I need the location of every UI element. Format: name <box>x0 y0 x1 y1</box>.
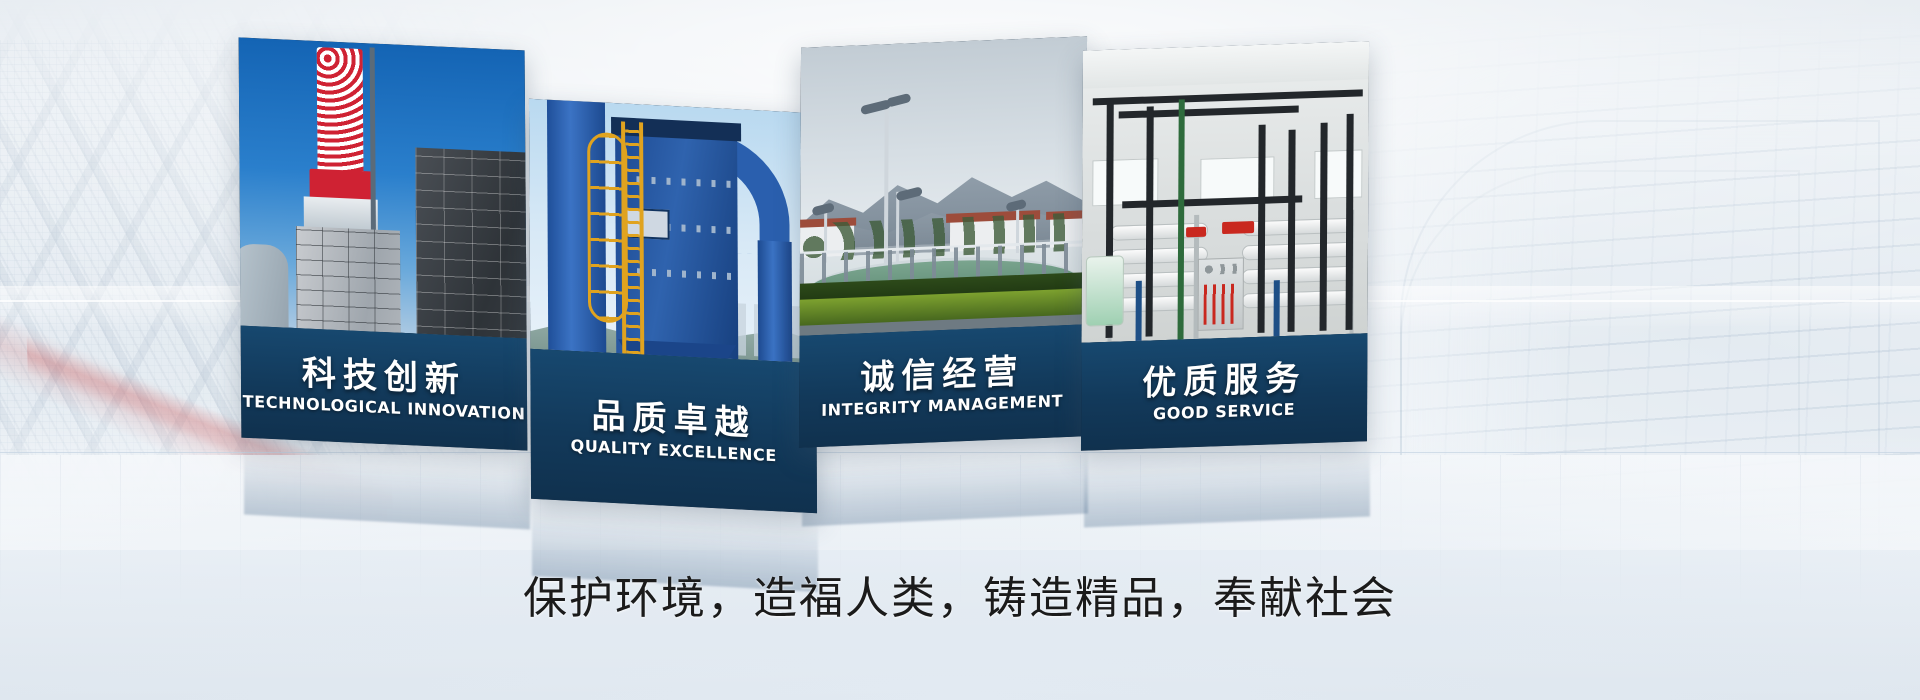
card-label-integrity-management: 诚信经营 INTEGRITY MANAGEMENT <box>799 324 1086 448</box>
card-title-cn: 品质卓越 <box>592 398 756 444</box>
banner-tagline: 保护环境，造福人类，铸造精品，奉献社会 <box>0 562 1920 626</box>
card-photo-good-service <box>1082 41 1370 343</box>
card-photo-integrity-management <box>800 36 1088 336</box>
card-title-en: INTEGRITY MANAGEMENT <box>821 391 1063 420</box>
card-title-cn: 诚信经营 <box>860 354 1024 398</box>
card-title-cn: 科技创新 <box>302 355 466 400</box>
hero-banner: 科技创新 TECHNOLOGICAL INNOVATION <box>0 0 1920 700</box>
card-title-cn: 优质服务 <box>1142 360 1306 403</box>
card-photo-technological-innovation <box>239 37 527 338</box>
card-title-en: GOOD SERVICE <box>1153 400 1295 424</box>
card-photo-quality-excellence <box>529 99 816 364</box>
card-label-quality-excellence: 品质卓越 QUALITY EXCELLENCE <box>530 349 817 514</box>
feature-card-list: 科技创新 TECHNOLOGICAL INNOVATION <box>0 0 1920 560</box>
card-label-technological-innovation: 科技创新 TECHNOLOGICAL INNOVATION <box>241 326 528 451</box>
card-label-good-service: 优质服务 GOOD SERVICE <box>1081 333 1368 451</box>
feature-card-integrity-management[interactable]: 诚信经营 INTEGRITY MANAGEMENT <box>799 36 1087 448</box>
feature-card-quality-excellence[interactable]: 品质卓越 QUALITY EXCELLENCE <box>529 99 817 514</box>
feature-card-good-service[interactable]: 优质服务 GOOD SERVICE <box>1081 41 1369 451</box>
feature-card-technological-innovation[interactable]: 科技创新 TECHNOLOGICAL INNOVATION <box>239 37 528 450</box>
